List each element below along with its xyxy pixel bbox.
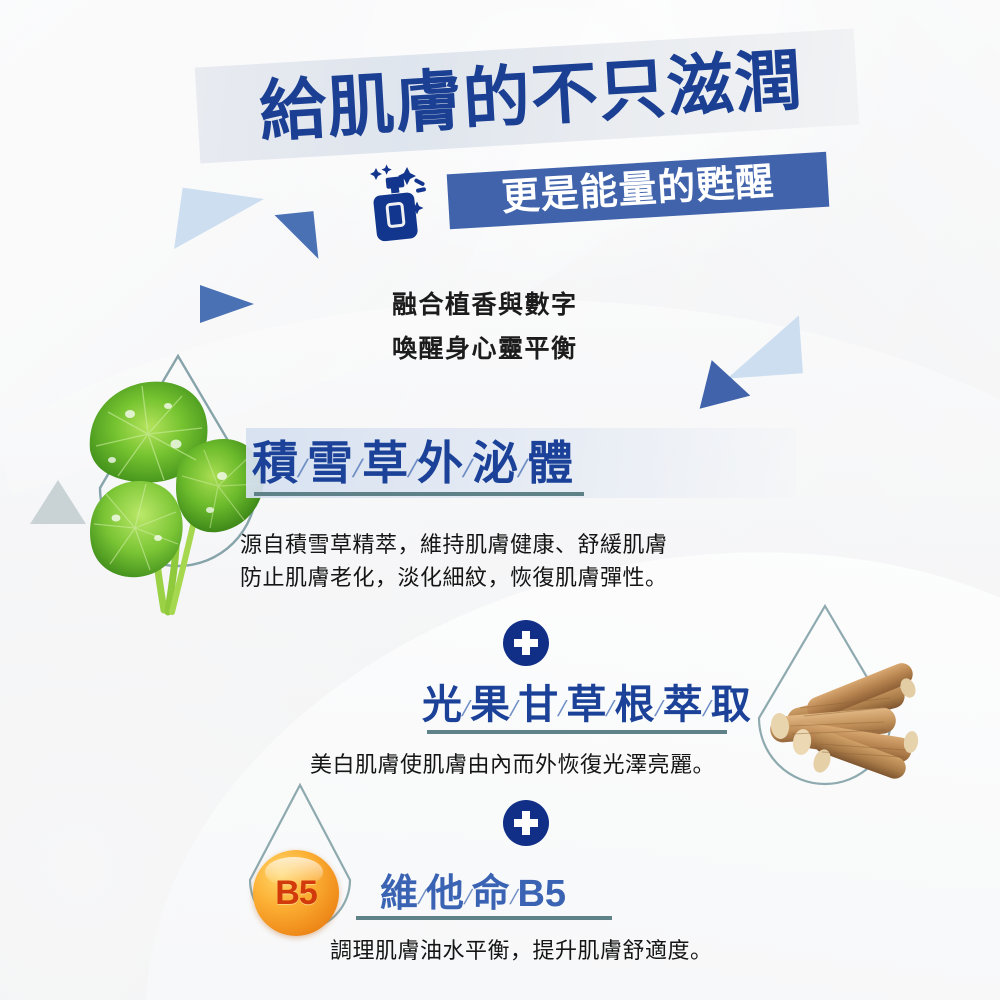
- title-char: 根: [615, 683, 655, 727]
- title-char: 雪: [307, 437, 353, 489]
- centella-title-rule: [254, 492, 584, 496]
- title-suffix: B5: [517, 873, 566, 915]
- desc-line-1: 美白肌膚使肌膚由內而外恢復光澤亮麗。: [310, 748, 715, 781]
- licorice-root-image: [760, 660, 940, 780]
- title-char: 萃: [663, 683, 703, 727]
- licorice-title-rule: [427, 730, 727, 734]
- tagline: 融合植香與數字 喚醒身心靈平衡: [392, 283, 578, 371]
- ingredient-desc-licorice: 美白肌膚使肌膚由內而外恢復光澤亮麗。: [310, 748, 715, 781]
- ingredient-desc-b5: 調理肌膚油水平衡，提升肌膚舒適度。: [330, 934, 713, 967]
- title-char: 草: [362, 437, 408, 489]
- b5-title-rule: [356, 916, 612, 920]
- title-char: 果: [470, 683, 510, 727]
- plus-circle-icon: [503, 800, 549, 846]
- ingredient-desc-centella: 源自積雪草精萃，維持肌膚健康、舒緩肌膚 防止肌膚老化，淡化細紋，恢復肌膚彈性。: [240, 528, 668, 594]
- poster-canvas: 給肌膚的不只滋潤 更是能量的甦醒 融合植香與數字 喚醒身心靈平衡: [0, 0, 1000, 1000]
- decor-triangle-light-1: [174, 188, 264, 261]
- desc-line-1: 源自積雪草精萃，維持肌膚健康、舒緩肌膚: [240, 528, 668, 561]
- tagline-line-2: 喚醒身心靈平衡: [392, 327, 578, 371]
- tagline-line-1: 融合植香與數字: [392, 283, 578, 327]
- title-char: 取: [711, 683, 751, 727]
- title-char: 他: [426, 873, 464, 915]
- title-char: 光: [422, 683, 462, 727]
- title-char: 甘: [518, 683, 558, 727]
- desc-line-1: 調理肌膚油水平衡，提升肌膚舒適度。: [330, 934, 713, 967]
- decor-triangle-blue-1: [275, 211, 319, 263]
- title-char: 維: [380, 873, 418, 915]
- ingredient-title-licorice: 光/果/甘/草/根/萃/取: [422, 678, 751, 738]
- title-char: 外: [417, 437, 463, 489]
- spray-bottle-icon: [366, 158, 428, 246]
- desc-line-2: 防止肌膚老化，淡化細紋，恢復肌膚彈性。: [240, 561, 668, 594]
- b5-label: B5: [253, 850, 339, 936]
- title-char: 泌: [472, 437, 518, 489]
- title-char: 體: [527, 437, 573, 489]
- plus-circle-icon: [503, 620, 549, 666]
- title-char: 命: [472, 873, 510, 915]
- title-char: 草: [566, 683, 606, 727]
- b5-capsule-icon: B5: [253, 850, 339, 936]
- decor-triangle-blue-2: [200, 285, 254, 323]
- title-char: 積: [252, 437, 298, 489]
